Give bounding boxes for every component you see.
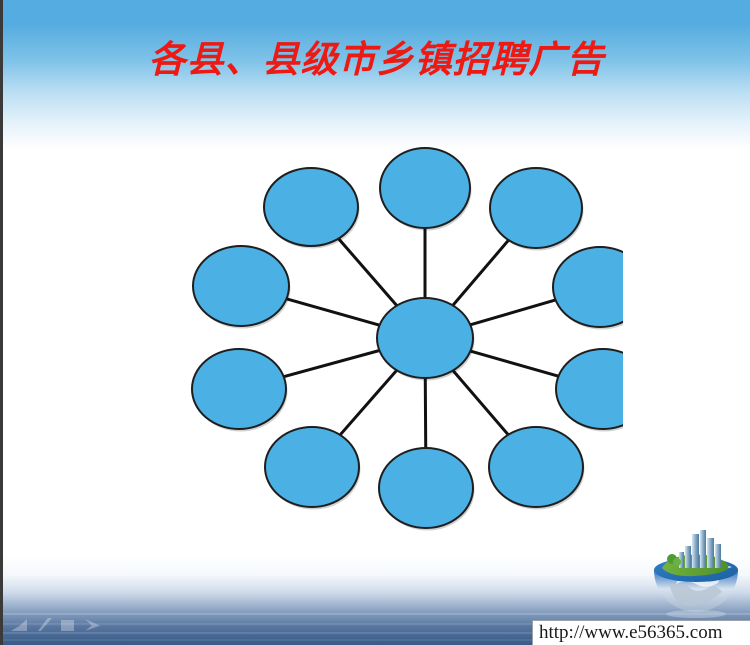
slide-title: 各县、县级市乡镇招聘广告 [3,38,750,82]
node-shape[interactable] [377,298,473,378]
skyscraper [715,544,721,568]
node-shape[interactable] [490,168,582,248]
radial-diagram-svg [163,120,623,540]
globe-city-logo [648,528,744,620]
diagram-node-satellite[interactable] [379,448,475,531]
sailboat-icon [61,620,74,631]
node-shape[interactable] [489,427,583,507]
skyscraper [707,538,714,568]
node-shape[interactable] [553,247,623,327]
diagram-node-satellite[interactable] [490,168,584,251]
radial-diagram [163,120,623,540]
watermark-url-text: http://www.e56365.com [533,621,750,645]
skyscraper [692,534,699,568]
diagram-connector [470,300,555,325]
diagram-node-satellite[interactable] [380,148,472,231]
diagram-connector [339,239,397,306]
node-shape[interactable] [264,168,358,246]
diagram-connector [453,371,508,435]
node-shape[interactable] [265,427,359,507]
diagram-node-satellite[interactable] [553,247,623,330]
diagram-connector [284,351,380,377]
sailboat-icon [85,619,100,631]
node-shape[interactable] [193,246,289,326]
skyscraper [700,530,706,568]
tree-icon [673,558,681,566]
diagram-node-satellite[interactable] [265,427,361,510]
diagram-node-satellite[interactable] [489,427,585,510]
diagram-node-satellite[interactable] [264,168,360,249]
skyscraper [685,546,691,568]
diagram-connector [340,370,397,435]
slide-canvas: 各县、县级市乡镇招聘广告 [0,0,750,645]
node-shape[interactable] [380,148,470,228]
diagram-node-satellite[interactable] [556,349,623,432]
watermark-url-box: http://www.e56365.com [532,620,750,645]
diagram-node-satellite[interactable] [193,246,291,329]
sailboat-icon [11,619,27,631]
node-shape[interactable] [192,349,286,429]
diagram-connector [286,299,379,325]
wave-line [3,613,750,615]
node-shape[interactable] [379,448,473,528]
diagram-node-center[interactable] [377,298,475,381]
diagram-connector [453,240,509,305]
node-shape[interactable] [556,349,623,429]
diagram-connector [470,351,558,376]
logo-reflection [666,610,726,618]
diagram-node-satellite[interactable] [192,349,288,432]
